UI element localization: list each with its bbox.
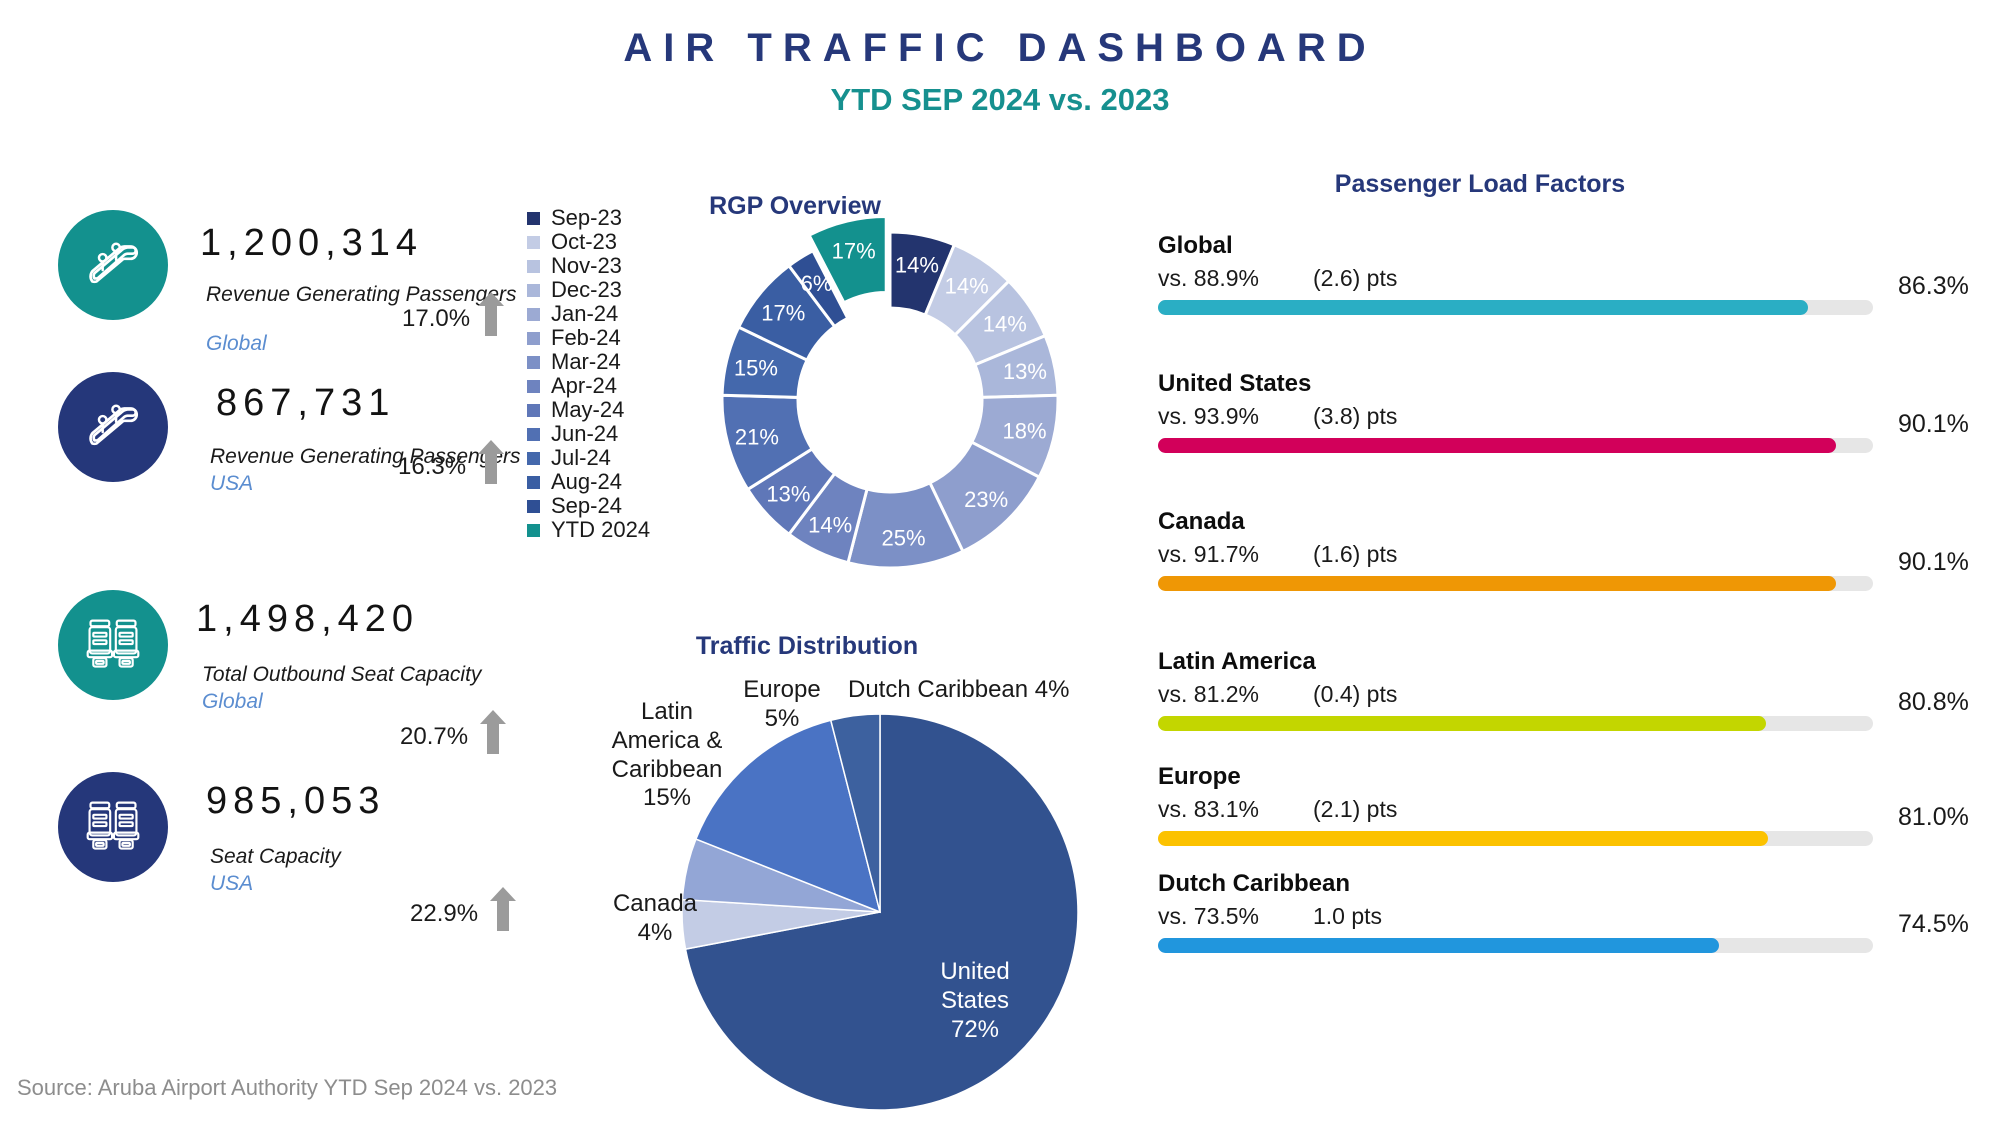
legend-item[interactable]: Feb-24 [527,326,650,350]
legend-item[interactable]: Apr-24 [527,374,650,398]
kpi-delta-seats-global: 20.7% [400,723,468,751]
pie-label-latin-l3: Caribbean [592,756,742,785]
legend-swatch [527,332,540,345]
legend-label: Nov-23 [551,253,622,279]
escalator-icon [80,394,146,460]
load-factors-title: Passenger Load Factors [1140,170,1820,199]
legend-swatch [527,356,540,369]
load-factor-row: Canada vs. 91.7% (1.6) pts 90.1% [1158,508,1978,569]
donut-slice-label: 18% [1003,419,1047,444]
legend-swatch [527,404,540,417]
donut-slice-label: 14% [983,311,1027,336]
kpi-icon-circle [58,590,168,700]
pie-label-canada-value: 4% [600,919,710,948]
load-factor-row: Latin America vs. 81.2% (0.4) pts 80.8% [1158,648,1978,709]
load-factor-vs: vs. 91.7% [1158,541,1259,568]
load-factor-pct: 74.5% [1898,910,1969,939]
page-title: AIR TRAFFIC DASHBOARD [0,26,2000,71]
seats-icon [83,797,143,857]
legend-label: Apr-24 [551,373,617,399]
donut-slice-label: 15% [734,355,778,380]
pie-label-latin-america: Latin America & Caribbean 15% [592,698,742,813]
legend-item[interactable]: Sep-23 [527,206,650,230]
kpi-card-rgp-global: 1,200,314 Revenue Generating Passengers … [58,210,518,360]
legend-swatch [527,308,540,321]
load-factor-pct: 90.1% [1898,410,1969,439]
legend-label: Dec-23 [551,277,622,303]
pie-label-dutch-caribbean: Dutch Caribbean 4% [848,676,1088,705]
kpi-icon-circle [58,372,168,482]
load-factor-vs: vs. 81.2% [1158,681,1259,708]
load-factor-pts: (2.1) pts [1313,796,1397,823]
pie-label-latin-l1: Latin [592,698,742,727]
load-factor-vs: vs. 73.5% [1158,903,1259,930]
load-factor-pct: 80.8% [1898,688,1969,717]
legend-label: Jul-24 [551,445,611,471]
kpi-label: Revenue Generating Passengers [210,444,570,470]
kpi-region: Global [206,332,267,356]
load-factor-fill [1158,831,1768,846]
legend-swatch [527,428,540,441]
load-factor-name: Canada [1158,508,1978,536]
pie-label-canada-name: Canada [600,890,710,919]
legend-label: Mar-24 [551,349,621,375]
legend-label: Jan-24 [551,301,618,327]
donut-slice-label: 14% [808,512,852,537]
donut-slice-label: 25% [882,525,926,550]
kpi-region: Global [202,690,263,714]
donut-slice-label: 23% [964,487,1008,512]
kpi-region: USA [210,472,253,496]
dashboard-root: AIR TRAFFIC DASHBOARD YTD SEP 2024 vs. 2… [0,0,2000,1125]
load-factor-row: United States vs. 93.9% (3.8) pts 90.1% [1158,370,1978,431]
kpi-delta-rgp-usa: 16.3% [398,453,466,481]
load-factor-track [1158,716,1873,731]
load-factor-track [1158,576,1873,591]
load-factor-fill [1158,716,1766,731]
kpi-card-rgp-usa: 867,731 Revenue Generating Passengers US… [58,372,518,522]
legend-swatch [527,236,540,249]
kpi-label: Total Outbound Seat Capacity [202,662,562,688]
load-factor-row: Europe vs. 83.1% (2.1) pts 81.0% [1158,763,1978,824]
legend-label: Sep-23 [551,205,622,231]
pie-label-canada: Canada 4% [600,890,710,948]
source-note: Source: Aruba Airport Authority YTD Sep … [17,1075,557,1101]
rgp-donut-chart[interactable]: 14%14%14%13%18%23%25%14%13%21%15%17%6%17… [700,205,1080,585]
donut-slice-label: 21% [735,424,779,449]
legend-item[interactable]: Nov-23 [527,254,650,278]
load-factor-vs: vs. 83.1% [1158,796,1259,823]
pie-label-latin-l4: 15% [592,784,742,813]
page-subtitle: YTD SEP 2024 vs. 2023 [0,82,2000,118]
pie-label-us-l2: States [900,987,1050,1016]
load-factor-pts: (0.4) pts [1313,681,1397,708]
legend-item[interactable]: Sep-24 [527,494,650,518]
load-factor-name: United States [1158,370,1978,398]
legend-label: Oct-23 [551,229,617,255]
donut-slice-label: 17% [832,238,876,263]
kpi-icon-circle [58,210,168,320]
legend-item[interactable]: Mar-24 [527,350,650,374]
escalator-icon [80,232,146,298]
load-factor-pts: (1.6) pts [1313,541,1397,568]
kpi-delta-rgp-global: 17.0% [402,305,470,333]
legend-swatch [527,524,540,537]
legend-label: Aug-24 [551,469,622,495]
load-factor-pts: (3.8) pts [1313,403,1397,430]
legend-label: May-24 [551,397,624,423]
load-factor-vs: vs. 93.9% [1158,403,1259,430]
load-factor-track [1158,300,1873,315]
load-factor-vs: vs. 88.9% [1158,265,1259,292]
arrow-up-icon [480,710,506,754]
pie-label-us-l3: 72% [900,1016,1050,1045]
load-factor-name: Europe [1158,763,1978,791]
load-factor-pct: 86.3% [1898,272,1969,301]
pie-label-us-l1: United [900,958,1050,987]
pie-label-united-states: United States 72% [900,958,1050,1044]
kpi-delta-seats-usa: 22.9% [410,900,478,928]
legend-item[interactable]: May-24 [527,398,650,422]
load-factor-row: Global vs. 88.9% (2.6) pts 86.3% [1158,232,1978,293]
arrow-up-icon [490,887,516,931]
kpi-value: 985,053 [206,780,385,823]
load-factor-name: Dutch Caribbean [1158,870,1978,898]
arrow-up-icon [478,292,504,336]
legend-label: Sep-24 [551,493,622,519]
legend-item[interactable]: Aug-24 [527,470,650,494]
donut-slice-label: 14% [945,273,989,298]
legend-swatch [527,380,540,393]
legend-swatch [527,212,540,225]
arrow-up-icon [478,440,504,484]
load-factor-track [1158,438,1873,453]
legend-item[interactable]: Jun-24 [527,422,650,446]
load-factor-fill [1158,938,1719,953]
load-factor-track [1158,831,1873,846]
legend-swatch [527,500,540,513]
donut-slice-label: 13% [1003,359,1047,384]
kpi-card-seats-global: 1,498,420 Total Outbound Seat Capacity G… [58,590,518,740]
donut-slice-label: 13% [766,481,810,506]
kpi-label: Seat Capacity [210,844,540,870]
traffic-chart-title: Traffic Distribution [672,632,942,661]
legend-swatch [527,260,540,273]
pie-label-latin-l2: America & [592,727,742,756]
load-factor-pts: 1.0 pts [1313,903,1382,930]
rgp-legend: Sep-23 Oct-23 Nov-23 Dec-23 Jan-24 Feb-2… [527,206,650,542]
seats-icon [83,615,143,675]
legend-label: Jun-24 [551,421,618,447]
legend-item[interactable]: Oct-23 [527,230,650,254]
load-factor-name: Latin America [1158,648,1978,676]
kpi-value: 1,498,420 [196,598,419,641]
legend-label: Feb-24 [551,325,621,351]
donut-slice-label: 14% [895,253,939,278]
kpi-icon-circle [58,772,168,882]
legend-label: YTD 2024 [551,517,650,543]
legend-swatch [527,452,540,465]
legend-item[interactable]: Dec-23 [527,278,650,302]
legend-item[interactable]: Jul-24 [527,446,650,470]
load-factor-fill [1158,576,1836,591]
kpi-value: 867,731 [216,382,395,425]
legend-swatch [527,476,540,489]
load-factor-fill [1158,438,1836,453]
legend-item[interactable]: YTD 2024 [527,518,650,542]
load-factor-name: Global [1158,232,1978,260]
donut-slice-label: 17% [761,300,805,325]
kpi-value: 1,200,314 [200,222,423,265]
load-factor-row: Dutch Caribbean vs. 73.5% 1.0 pts 74.5% [1158,870,1978,931]
load-factor-pts: (2.6) pts [1313,265,1397,292]
load-factor-track [1158,938,1873,953]
legend-item[interactable]: Jan-24 [527,302,650,326]
legend-swatch [527,284,540,297]
load-factor-fill [1158,300,1808,315]
load-factor-pct: 90.1% [1898,548,1969,577]
load-factor-pct: 81.0% [1898,803,1969,832]
kpi-region: USA [210,872,253,896]
donut-slice-label: 6% [801,271,833,296]
